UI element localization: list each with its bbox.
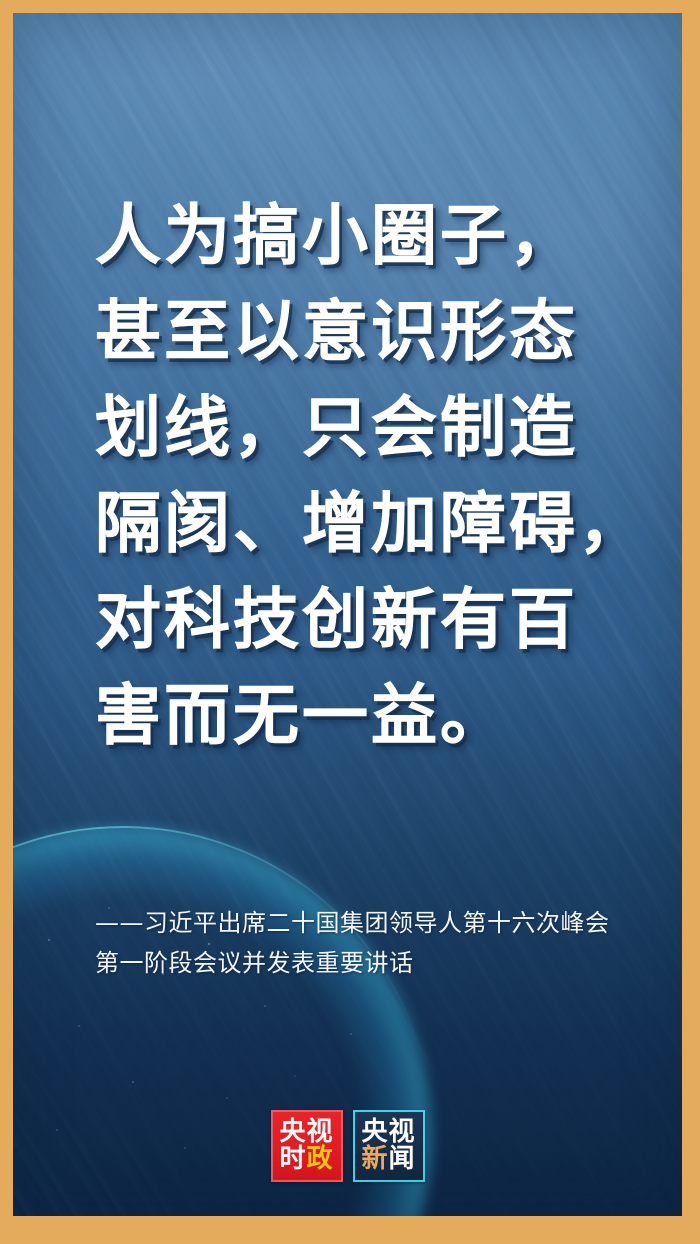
logo-shizheng-top: 央视 — [279, 1119, 333, 1146]
logo-xinwen-char-xin: 新 — [361, 1144, 388, 1174]
headline-line-4: 隔阂、增加障碍， — [95, 476, 655, 572]
logo-cctv-shizheng[interactable]: 央视 时政 — [271, 1110, 343, 1182]
logo-xinwen-bottom: 新闻 — [361, 1146, 415, 1173]
attribution-line-2: 第一阶段会议并发表重要讲话 — [95, 943, 655, 983]
poster-canvas: 人为搞小圈子， 甚至以意识形态 划线，只会制造 隔阂、增加障碍， 对科技创新有百… — [13, 13, 682, 1216]
logo-xinwen-top: 央视 — [361, 1119, 415, 1146]
logo-cctv-xinwen[interactable]: 央视 新闻 — [353, 1110, 425, 1182]
logo-shizheng-char-shi: 时 — [279, 1144, 306, 1174]
headline-line-1: 人为搞小圈子， — [95, 188, 655, 284]
logo-strip: 央视 时政 央视 新闻 — [13, 1110, 682, 1182]
logo-xinwen-char-wen: 闻 — [389, 1144, 416, 1174]
headline-line-6: 害而无一益。 — [95, 668, 655, 764]
headline-quote: 人为搞小圈子， 甚至以意识形态 划线，只会制造 隔阂、增加障碍， 对科技创新有百… — [95, 188, 655, 764]
logo-shizheng-char-zheng: 政 — [307, 1144, 334, 1174]
attribution-line-1: ——习近平出席二十国集团领导人第十六次峰会 — [95, 903, 655, 943]
headline-line-2: 甚至以意识形态 — [95, 284, 655, 380]
headline-line-3: 划线，只会制造 — [95, 380, 655, 476]
headline-line-5: 对科技创新有百 — [95, 572, 655, 668]
logo-shizheng-bottom: 时政 — [279, 1146, 333, 1173]
poster-frame: 人为搞小圈子， 甚至以意识形态 划线，只会制造 隔阂、增加障碍， 对科技创新有百… — [0, 0, 700, 1244]
attribution-block: ——习近平出席二十国集团领导人第十六次峰会 第一阶段会议并发表重要讲话 — [95, 903, 655, 983]
